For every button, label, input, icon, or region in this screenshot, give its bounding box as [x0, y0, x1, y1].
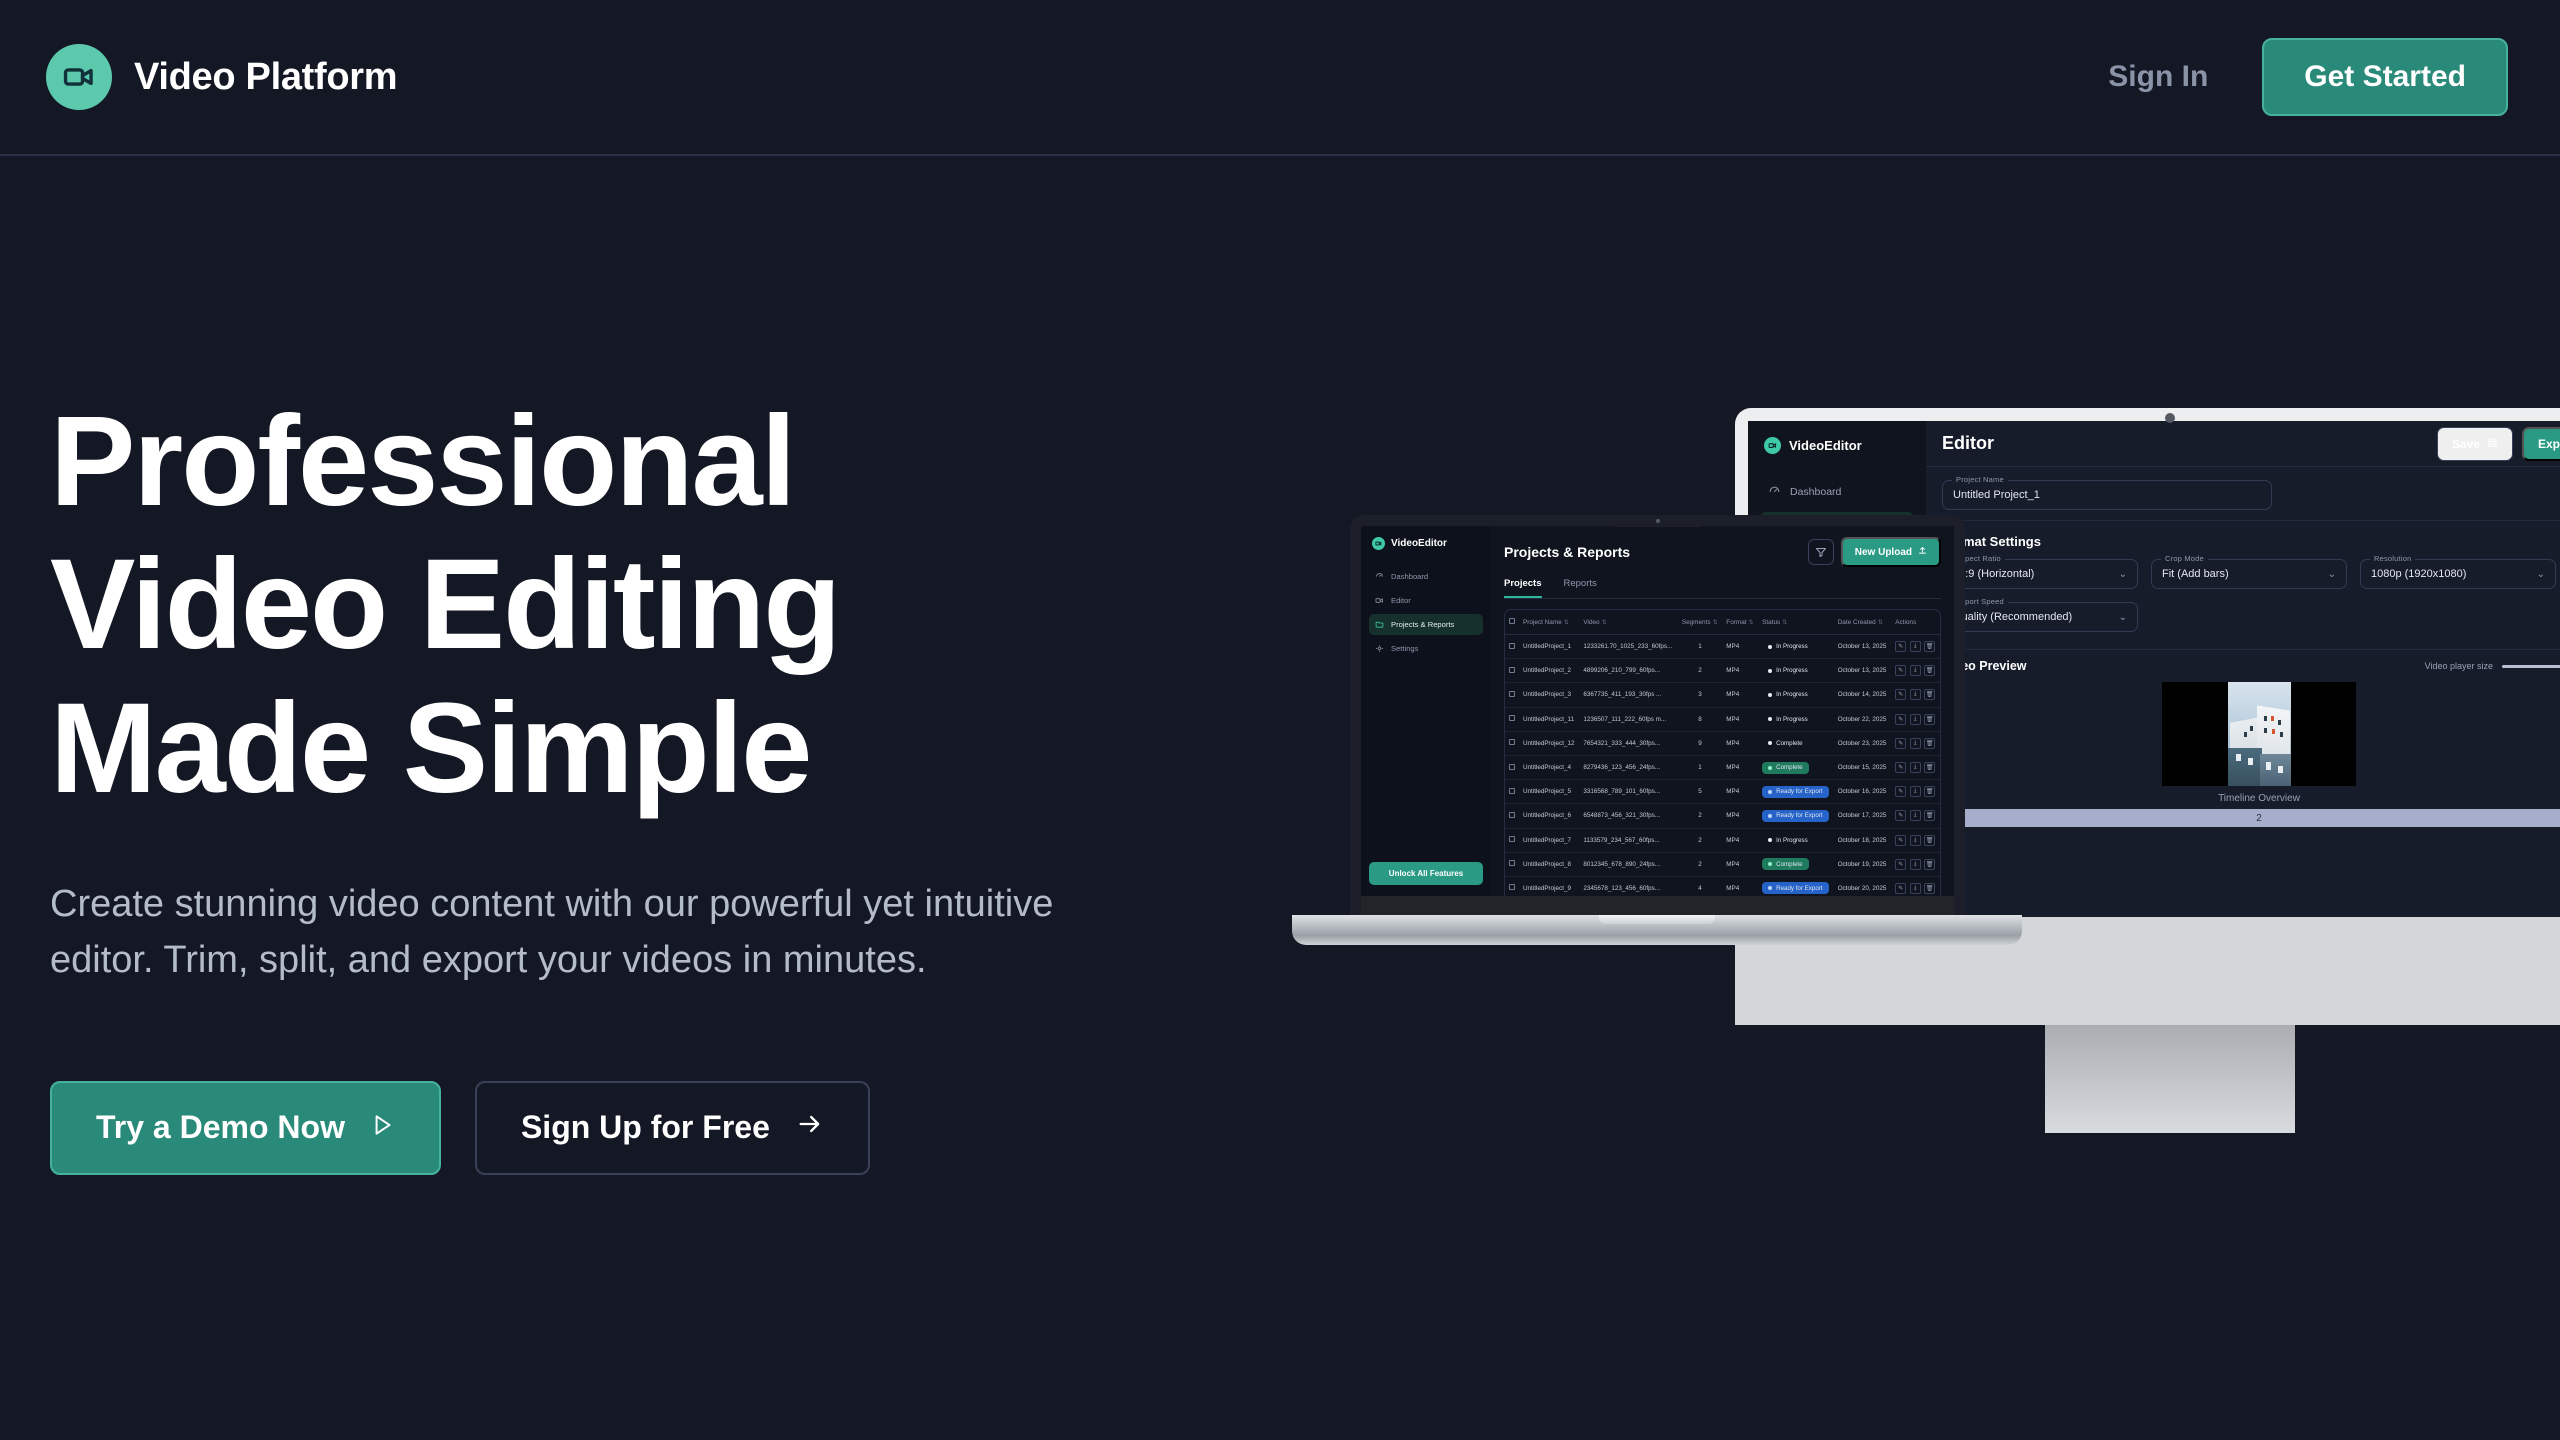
sidebar-label: Projects & Reports	[1391, 620, 1454, 629]
cell-format: MP4	[1722, 659, 1758, 683]
tab-projects[interactable]: Projects	[1504, 578, 1542, 598]
sidebar-label: Dashboard	[1391, 572, 1428, 581]
checkbox-icon[interactable]	[1509, 691, 1515, 697]
cell-project-name: UntitledProject_2	[1519, 659, 1579, 683]
row-checkbox[interactable]	[1505, 635, 1519, 659]
download-icon[interactable]: ⤓	[1910, 665, 1921, 676]
status-badge: Complete	[1762, 858, 1808, 870]
cell-date-created: October 20, 2025	[1834, 876, 1892, 896]
checkbox-icon[interactable]	[1509, 884, 1515, 890]
cell-segments: 5	[1678, 780, 1722, 804]
sidebar-label: Dashboard	[1790, 486, 1841, 498]
editor-brand: VideoEditor	[1760, 437, 1914, 454]
projects-table-wrapper: Project Name⇅ Video⇅ Segments⇅ Format⇅ S…	[1504, 609, 1941, 896]
save-label: Save	[2452, 437, 2480, 451]
video-thumbnail	[2228, 682, 2291, 786]
cell-project-name: UntitledProject_3	[1519, 683, 1579, 707]
cell-format: MP4	[1722, 683, 1758, 707]
arrow-right-icon	[796, 1109, 824, 1146]
checkbox-icon[interactable]	[1509, 836, 1515, 842]
aspect-ratio-select[interactable]: Aspect Ratio 16:9 (Horizontal) ⌄	[1942, 559, 2138, 589]
table-row[interactable]: UntitledProject_48279436_123_456_24fps..…	[1505, 755, 1940, 779]
cell-actions: ✎⤓🗑	[1891, 876, 1940, 896]
cell-actions: ✎⤓🗑	[1891, 707, 1940, 731]
download-icon[interactable]: ⤓	[1910, 883, 1921, 894]
cell-date-created: October 18, 2025	[1834, 828, 1892, 852]
resolution-label: Resolution	[2370, 554, 2415, 563]
cell-segments: 2	[1678, 828, 1722, 852]
checkbox-icon[interactable]	[1509, 715, 1515, 721]
edit-icon[interactable]: ✎	[1895, 689, 1906, 700]
status-badge: Complete	[1762, 762, 1808, 774]
webcam-icon	[2165, 413, 2175, 423]
player-size-label: Video player size	[2425, 661, 2493, 671]
get-started-button[interactable]: Get Started	[2262, 38, 2508, 116]
delete-icon[interactable]: 🗑	[1924, 786, 1935, 797]
status-badge: In Progress	[1762, 713, 1814, 725]
table-row[interactable]: UntitledProject_11233261.70_1025_233_60f…	[1505, 635, 1940, 659]
cell-status: Complete	[1758, 731, 1834, 755]
cell-project-name: UntitledProject_7	[1519, 828, 1579, 852]
cell-segments: 1	[1678, 755, 1722, 779]
cell-project-name: UntitledProject_12	[1519, 731, 1579, 755]
page-title: Professional Video Editing Made Simple	[50, 390, 1170, 820]
cell-actions: ✎⤓🗑	[1891, 852, 1940, 876]
cell-date-created: October 13, 2025	[1834, 635, 1892, 659]
cell-video: 2345678_123_456_60fps...	[1579, 876, 1677, 896]
cell-project-name: UntitledProject_4	[1519, 755, 1579, 779]
projects-brand: VideoEditor	[1369, 537, 1483, 550]
editor-brand-name: VideoEditor	[1789, 438, 1862, 453]
new-upload-button[interactable]: New Upload	[1841, 537, 1941, 567]
download-icon[interactable]: ⤓	[1910, 762, 1921, 773]
cell-video: 8012345_678_890_24fps...	[1579, 852, 1677, 876]
download-icon[interactable]: ⤓	[1910, 689, 1921, 700]
format-field-row-1: Aspect Ratio 16:9 (Horizontal) ⌄ Crop Mo…	[1942, 559, 2560, 593]
player-size-slider[interactable]: Video player size	[2425, 661, 2560, 671]
unlock-all-features-button[interactable]: Unlock All Features	[1369, 862, 1483, 885]
sign-in-link[interactable]: Sign In	[2108, 60, 2208, 94]
laptop-dimple	[1599, 915, 1715, 924]
cell-status: In Progress	[1758, 683, 1834, 707]
cell-format: MP4	[1722, 852, 1758, 876]
checkbox-icon[interactable]	[1509, 788, 1515, 794]
checkbox-icon[interactable]	[1509, 739, 1515, 745]
cell-project-name: UntitledProject_1	[1519, 635, 1579, 659]
row-checkbox[interactable]	[1505, 659, 1519, 683]
projects-table: Project Name⇅ Video⇅ Segments⇅ Format⇅ S…	[1505, 610, 1940, 896]
video-preview-header: Video Preview Video player size	[1942, 659, 2560, 673]
edit-icon[interactable]: ✎	[1895, 665, 1906, 676]
row-checkbox[interactable]	[1505, 683, 1519, 707]
play-triangle-icon	[369, 1109, 395, 1146]
edit-icon[interactable]: ✎	[1895, 714, 1906, 725]
table-row[interactable]: UntitledProject_92345678_123_456_60fps..…	[1505, 876, 1940, 896]
chevron-down-icon: ⌄	[2328, 569, 2336, 580]
filter-funnel-icon[interactable]	[1808, 539, 1834, 565]
status-badge: In Progress	[1762, 689, 1814, 701]
laptop-mockup: VideoEditor Dashboard Edit	[1350, 515, 1965, 945]
sign-up-free-button[interactable]: Sign Up for Free	[475, 1081, 870, 1175]
cell-segments: 2	[1678, 804, 1722, 828]
sort-icon[interactable]: ⇅	[1602, 620, 1607, 626]
project-name-field[interactable]: Project Name Untitled Project_1	[1942, 480, 2272, 510]
try-demo-label: Try a Demo Now	[96, 1109, 345, 1146]
col-video[interactable]: Video⇅	[1579, 610, 1677, 635]
cell-video: 1133579_234_567_60fps...	[1579, 828, 1677, 852]
cell-status: In Progress	[1758, 659, 1834, 683]
table-body: UntitledProject_11233261.70_1025_233_60f…	[1505, 635, 1940, 897]
cell-format: MP4	[1722, 635, 1758, 659]
cell-segments: 4	[1678, 876, 1722, 896]
cell-actions: ✎⤓🗑	[1891, 635, 1940, 659]
editor-toolbar-buttons: Save Exp	[2437, 427, 2560, 461]
col-actions: Actions	[1891, 610, 1940, 635]
device-mockups: VideoEditor Dashboard Edit	[1350, 390, 2560, 1240]
monitor-stand	[2045, 1025, 2295, 1133]
sidebar-item-projects-reports[interactable]: Projects & Reports	[1369, 614, 1483, 635]
sidebar-item-dashboard[interactable]: Dashboard	[1369, 566, 1483, 587]
edit-icon[interactable]: ✎	[1895, 859, 1906, 870]
heading-line-1: Professional	[50, 390, 794, 533]
editor-main: Editor Save Exp	[1926, 421, 2560, 917]
sidebar-item-editor[interactable]: Editor	[1369, 590, 1483, 611]
table-header-row: Project Name⇅ Video⇅ Segments⇅ Format⇅ S…	[1505, 610, 1940, 635]
sort-icon[interactable]: ⇅	[1782, 620, 1787, 626]
status-badge: In Progress	[1762, 665, 1814, 677]
format-field-row-2: Export Speed Quality (Recommended) ⌄	[1942, 602, 2560, 636]
sidebar-item-dashboard[interactable]: Dashboard	[1760, 476, 1914, 507]
edit-icon[interactable]: ✎	[1895, 810, 1906, 821]
cell-status: In Progress	[1758, 635, 1834, 659]
sidebar-label: Settings	[1391, 644, 1418, 653]
checkbox-icon[interactable]	[1509, 764, 1515, 770]
cell-video: 8279436_123_456_24fps...	[1579, 755, 1677, 779]
delete-icon[interactable]: 🗑	[1924, 810, 1935, 821]
col-select[interactable]	[1505, 610, 1519, 635]
cell-project-name: UntitledProject_6	[1519, 804, 1579, 828]
row-checkbox[interactable]	[1505, 876, 1519, 896]
dashboard-icon	[1768, 485, 1781, 498]
project-name-label: Project Name	[1952, 475, 2008, 484]
cell-project-name: UntitledProject_8	[1519, 852, 1579, 876]
download-icon[interactable]: ⤓	[1910, 738, 1921, 749]
cell-format: MP4	[1722, 780, 1758, 804]
cell-video: 1236507_111_222_60fps m...	[1579, 707, 1677, 731]
export-speed-value: Quality (Recommended)	[1953, 611, 2072, 623]
edit-icon[interactable]: ✎	[1895, 883, 1906, 894]
cell-actions: ✎⤓🗑	[1891, 780, 1940, 804]
sort-icon[interactable]: ⇅	[1878, 620, 1883, 626]
row-checkbox[interactable]	[1505, 707, 1519, 731]
video-camera-icon	[46, 44, 112, 110]
status-badge: In Progress	[1762, 641, 1814, 653]
delete-icon[interactable]: 🗑	[1924, 665, 1935, 676]
laptop-base	[1292, 915, 2022, 945]
editor-toolbar: Editor Save Exp	[1926, 421, 2560, 467]
save-button[interactable]: Save	[2437, 427, 2513, 461]
checkbox-icon[interactable]	[1509, 667, 1515, 673]
checkbox-icon[interactable]	[1509, 812, 1515, 818]
building-shape	[2228, 748, 2262, 786]
cell-date-created: October 19, 2025	[1834, 852, 1892, 876]
download-icon[interactable]: ⤓	[1910, 810, 1921, 821]
cell-format: MP4	[1722, 828, 1758, 852]
cell-date-created: October 23, 2025	[1834, 731, 1892, 755]
crop-mode-select[interactable]: Crop Mode Fit (Add bars) ⌄	[2151, 559, 2347, 589]
cell-format: MP4	[1722, 804, 1758, 828]
chevron-down-icon: ⌄	[2537, 569, 2545, 580]
save-disk-icon	[2487, 437, 2498, 451]
brand-name: Video Platform	[134, 56, 397, 99]
try-demo-button[interactable]: Try a Demo Now	[50, 1081, 441, 1175]
sign-up-label: Sign Up for Free	[521, 1109, 770, 1146]
download-icon[interactable]: ⤓	[1910, 714, 1921, 725]
edit-icon[interactable]: ✎	[1895, 835, 1906, 846]
new-upload-label: New Upload	[1855, 547, 1912, 558]
video-camera-icon	[1375, 596, 1384, 605]
dashboard-icon	[1375, 572, 1384, 581]
delete-icon[interactable]: 🗑	[1924, 835, 1935, 846]
download-icon[interactable]: ⤓	[1910, 786, 1921, 797]
cell-format: MP4	[1722, 755, 1758, 779]
delete-icon[interactable]: 🗑	[1924, 689, 1935, 700]
editor-form: Project Name Untitled Project_1 Format S…	[1926, 467, 2560, 917]
cell-video: 6367735_411_193_30fps ...	[1579, 683, 1677, 707]
cell-status: Ready for Export	[1758, 804, 1834, 828]
sidebar-item-settings[interactable]: Settings	[1369, 638, 1483, 659]
projects-sidebar: VideoEditor Dashboard Edit	[1361, 526, 1491, 896]
resolution-select[interactable]: Resolution 1080p (1920x1080) ⌄	[2360, 559, 2556, 589]
video-camera-icon	[1372, 537, 1385, 550]
projects-header-actions: New Upload	[1808, 537, 1941, 567]
col-project-name[interactable]: Project Name⇅	[1519, 610, 1579, 635]
projects-app-screen: VideoEditor Dashboard Edit	[1361, 526, 1954, 896]
row-checkbox[interactable]	[1505, 780, 1519, 804]
cell-format: MP4	[1722, 731, 1758, 755]
row-checkbox[interactable]	[1505, 755, 1519, 779]
heading-line-3: Made Simple	[50, 677, 810, 820]
table-row[interactable]: UntitledProject_111236507_111_222_60fps …	[1505, 707, 1940, 731]
cell-actions: ✎⤓🗑	[1891, 828, 1940, 852]
delete-icon[interactable]: 🗑	[1924, 714, 1935, 725]
aspect-ratio-value: 16:9 (Horizontal)	[1953, 568, 2034, 580]
table-row[interactable]: UntitledProject_53316568_789_101_60fps..…	[1505, 780, 1940, 804]
sidebar-label: Editor	[1391, 596, 1411, 605]
cell-date-created: October 17, 2025	[1834, 804, 1892, 828]
tab-reports[interactable]: Reports	[1564, 578, 1597, 598]
cell-status: Ready for Export	[1758, 876, 1834, 896]
col-date-created[interactable]: Date Created⇅	[1834, 610, 1892, 635]
download-icon[interactable]: ⤓	[1910, 641, 1921, 652]
cell-segments: 9	[1678, 731, 1722, 755]
sort-icon[interactable]: ⇅	[1713, 620, 1718, 626]
download-icon[interactable]: ⤓	[1910, 859, 1921, 870]
row-checkbox[interactable]	[1505, 804, 1519, 828]
cell-format: MP4	[1722, 876, 1758, 896]
cell-segments: 2	[1678, 659, 1722, 683]
cell-video: 1233261.70_1025_233_60fps...	[1579, 635, 1677, 659]
hero-cta-row: Try a Demo Now Sign Up for Free	[50, 1081, 1170, 1175]
cell-status: In Progress	[1758, 828, 1834, 852]
export-button[interactable]: Exp	[2522, 427, 2560, 461]
edit-icon[interactable]: ✎	[1895, 738, 1906, 749]
cell-date-created: October 16, 2025	[1834, 780, 1892, 804]
hero-section: Professional Video Editing Made Simple C…	[50, 390, 1170, 1175]
table-row[interactable]: UntitledProject_71133579_234_567_60fps..…	[1505, 828, 1940, 852]
crop-mode-value: Fit (Add bars)	[2162, 568, 2229, 580]
project-name-value: Untitled Project_1	[1953, 489, 2040, 501]
table-row[interactable]: UntitledProject_127654321_333_444_30fps.…	[1505, 731, 1940, 755]
delete-icon[interactable]: 🗑	[1924, 762, 1935, 773]
table-row[interactable]: UntitledProject_36367735_411_193_30fps .…	[1505, 683, 1940, 707]
landing-page: Video Platform Sign In Get Started Profe…	[0, 0, 2560, 1440]
format-settings-title: Format Settings	[1942, 534, 2560, 549]
building-shape	[2260, 754, 2291, 786]
folder-icon	[1375, 620, 1384, 629]
cell-project-name: UntitledProject_9	[1519, 876, 1579, 896]
webcam-icon	[1656, 519, 1660, 523]
export-speed-select[interactable]: Export Speed Quality (Recommended) ⌄	[1942, 602, 2138, 632]
cell-format: MP4	[1722, 707, 1758, 731]
slider-track[interactable]	[2502, 665, 2560, 668]
laptop-screen-foot	[1361, 896, 1954, 915]
delete-icon[interactable]: 🗑	[1924, 883, 1935, 894]
projects-header: Projects & Reports New Upload	[1504, 537, 1941, 567]
nav-actions: Sign In Get Started	[2108, 38, 2508, 116]
table-row[interactable]: UntitledProject_66548873_456_321_30fps..…	[1505, 804, 1940, 828]
editor-page-title: Editor	[1942, 433, 1994, 454]
status-badge: Ready for Export	[1762, 810, 1828, 822]
status-badge: Ready for Export	[1762, 786, 1828, 798]
cell-status: Complete	[1758, 755, 1834, 779]
cell-status: Ready for Export	[1758, 780, 1834, 804]
edit-icon[interactable]: ✎	[1895, 762, 1906, 773]
cell-date-created: October 14, 2025	[1834, 683, 1892, 707]
crop-mode-label: Crop Mode	[2161, 554, 2208, 563]
cell-video: 4899206_210_799_60fps...	[1579, 659, 1677, 683]
top-navbar: Video Platform Sign In Get Started	[0, 0, 2560, 156]
row-checkbox[interactable]	[1505, 828, 1519, 852]
cell-video: 7654321_333_444_30fps...	[1579, 731, 1677, 755]
edit-icon[interactable]: ✎	[1895, 786, 1906, 797]
delete-icon[interactable]: 🗑	[1924, 738, 1935, 749]
projects-brand-name: VideoEditor	[1391, 538, 1447, 549]
delete-icon[interactable]: 🗑	[1924, 859, 1935, 870]
sort-icon[interactable]: ⇅	[1564, 620, 1569, 626]
col-status[interactable]: Status⇅	[1758, 610, 1834, 635]
cell-date-created: October 13, 2025	[1834, 659, 1892, 683]
gear-icon	[1375, 644, 1384, 653]
divider	[1942, 649, 2560, 650]
cell-date-created: October 15, 2025	[1834, 755, 1892, 779]
cell-actions: ✎⤓🗑	[1891, 659, 1940, 683]
cell-actions: ✎⤓🗑	[1891, 755, 1940, 779]
divider	[1942, 520, 2560, 521]
table-row[interactable]: UntitledProject_24899206_210_799_60fps..…	[1505, 659, 1940, 683]
row-checkbox[interactable]	[1505, 852, 1519, 876]
status-badge: In Progress	[1762, 834, 1814, 846]
resolution-value: 1080p (1920x1080)	[2371, 568, 2466, 580]
chevron-down-icon: ⌄	[2119, 569, 2127, 580]
cell-actions: ✎⤓🗑	[1891, 683, 1940, 707]
chevron-down-icon: ⌄	[2119, 612, 2127, 623]
col-format[interactable]: Format⇅	[1722, 610, 1758, 635]
edit-icon[interactable]: ✎	[1895, 641, 1906, 652]
cell-actions: ✎⤓🗑	[1891, 804, 1940, 828]
cell-segments: 2	[1678, 852, 1722, 876]
cell-video: 3316568_789_101_60fps...	[1579, 780, 1677, 804]
checkbox-icon[interactable]	[1509, 618, 1515, 624]
laptop-lid: VideoEditor Dashboard Edit	[1350, 515, 1965, 915]
status-badge: Ready for Export	[1762, 882, 1828, 894]
table-row[interactable]: UntitledProject_88012345_678_890_24fps..…	[1505, 852, 1940, 876]
cell-segments: 8	[1678, 707, 1722, 731]
col-segments[interactable]: Segments⇅	[1678, 610, 1722, 635]
checkbox-icon[interactable]	[1509, 643, 1515, 649]
cell-actions: ✎⤓🗑	[1891, 731, 1940, 755]
download-icon[interactable]: ⤓	[1910, 835, 1921, 846]
brand-logo[interactable]: Video Platform	[46, 44, 397, 110]
cell-video: 6548873_456_321_30fps...	[1579, 804, 1677, 828]
cell-project-name: UntitledProject_11	[1519, 707, 1579, 731]
delete-icon[interactable]: 🗑	[1924, 641, 1935, 652]
cell-date-created: October 22, 2025	[1834, 707, 1892, 731]
cell-project-name: UntitledProject_5	[1519, 780, 1579, 804]
video-camera-icon	[1764, 437, 1781, 454]
row-checkbox[interactable]	[1505, 731, 1519, 755]
timeline-bar[interactable]: 2	[1942, 809, 2560, 827]
projects-main: Projects & Reports New Upload	[1491, 526, 1954, 896]
video-player[interactable]	[2162, 682, 2356, 786]
projects-tabs: Projects Reports	[1504, 578, 1941, 599]
timeline-overview-title: Timeline Overview	[1942, 793, 2560, 804]
cell-status: In Progress	[1758, 707, 1834, 731]
cell-segments: 3	[1678, 683, 1722, 707]
sort-icon[interactable]: ⇅	[1749, 620, 1754, 626]
cell-status: Complete	[1758, 852, 1834, 876]
status-badge: Complete	[1762, 737, 1808, 749]
table-header: Project Name⇅ Video⇅ Segments⇅ Format⇅ S…	[1505, 610, 1940, 635]
heading-line-2: Video Editing	[50, 533, 839, 676]
hero-subtitle: Create stunning video content with our p…	[50, 876, 1130, 988]
checkbox-icon[interactable]	[1509, 860, 1515, 866]
projects-page-title: Projects & Reports	[1504, 544, 1630, 560]
upload-icon	[1918, 546, 1927, 558]
cell-segments: 1	[1678, 635, 1722, 659]
